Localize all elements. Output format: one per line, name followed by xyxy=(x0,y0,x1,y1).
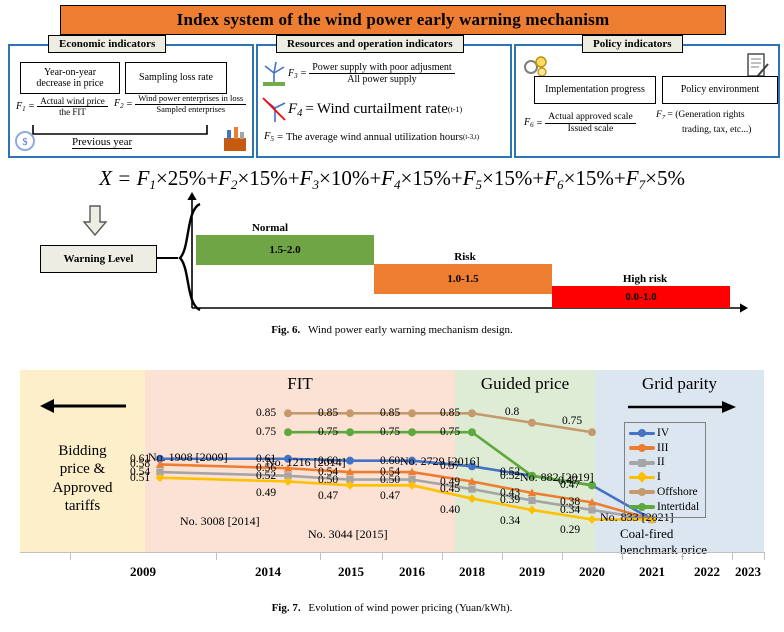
f3-fraction: Power supply with poor adjusment All pow… xyxy=(309,62,454,85)
data-point xyxy=(468,494,477,503)
legend-item-i[interactable]: I xyxy=(629,470,699,485)
figure-7-caption-label: Fig. 7. xyxy=(272,602,301,614)
box-label: Implementation progress xyxy=(545,84,645,96)
formula-term-5: F5×15% xyxy=(463,166,533,190)
f1-symbol: F1 xyxy=(16,101,26,113)
equals-sign: = xyxy=(127,99,133,110)
x-axis-label-2009: 2009 xyxy=(130,564,156,580)
data-label: 0.52 xyxy=(256,470,276,482)
data-label: 0.34 xyxy=(500,515,520,527)
equation-f6: F6 = Actual approved scale Issued scale xyxy=(524,112,636,134)
legend-swatch xyxy=(629,490,655,494)
legend-label: Offshore xyxy=(657,485,698,500)
bar-range-high-risk: 0.0-1.0 xyxy=(625,291,656,303)
box-label: Policy environment xyxy=(681,84,760,96)
f7-line2: trading, tax, etc...) xyxy=(682,123,751,137)
equals-sign: = xyxy=(301,68,307,79)
data-label: 0.39 xyxy=(500,494,520,506)
panel-economic-indicators: Economic indicators Year-on-year decreas… xyxy=(8,44,254,158)
chart-legend: IVIIIIIIOffshoreIntertidal xyxy=(624,422,706,518)
f4-subscript: (t-1) xyxy=(448,105,462,114)
bar-high-risk: 0.0-1.0 xyxy=(552,286,730,308)
annotation-no-882: No. 882 [2019] xyxy=(520,470,594,485)
legend-swatch xyxy=(629,432,655,436)
x-axis-label-2018: 2018 xyxy=(459,564,485,580)
equation-f5: F5 = The average wind annual utilization… xyxy=(264,131,479,143)
x-axis-label-2015: 2015 xyxy=(338,564,364,580)
box-sampling-loss-rate: Sampling loss rate xyxy=(125,62,227,94)
annotation-no-3044: No. 3044 [2015] xyxy=(308,527,388,542)
legend-item-iii[interactable]: III xyxy=(629,441,699,456)
equals-sign: = xyxy=(537,118,543,129)
data-label: 0.52 xyxy=(500,466,520,478)
f7-line1: = (Generation rights xyxy=(668,110,745,120)
panel-caption-economic: Economic indicators xyxy=(48,35,166,53)
data-point xyxy=(284,428,292,436)
equation-f7: F7 = (Generation rights trading, tax, et… xyxy=(656,108,751,137)
legend-swatch xyxy=(629,476,655,480)
data-point xyxy=(346,428,354,436)
bar-range-risk: 1.0-1.5 xyxy=(447,273,478,285)
page-title: Index system of the wind power early war… xyxy=(60,5,726,35)
data-label: 0.49 xyxy=(256,487,276,499)
box-year-on-year-decrease: Year-on-year decrease in price xyxy=(20,62,120,94)
data-label: 0.34 xyxy=(560,504,580,516)
x-tick xyxy=(622,552,623,560)
x-axis-label-2023: 2023 xyxy=(735,564,761,580)
data-label: 0.85 xyxy=(440,407,460,419)
annotation-no-1216: No. 1216 [2014] xyxy=(266,455,346,470)
box-implementation-progress: Implementation progress xyxy=(534,76,656,104)
figure-6-caption-text: Wind power early warning mechanism desig… xyxy=(308,324,513,336)
f5-subscript: (t-3,t) xyxy=(463,133,479,141)
x-tick xyxy=(764,552,765,560)
legend-swatch xyxy=(629,446,655,450)
f2-symbol: F2 xyxy=(114,98,124,110)
legend-item-intertidal[interactable]: Intertidal xyxy=(629,500,699,515)
panel-caption-policy: Policy indicators xyxy=(582,35,683,53)
formula-term-3: F3×10% xyxy=(300,166,370,190)
data-label: 0.75 xyxy=(256,426,276,438)
data-point xyxy=(408,409,416,417)
data-label: 0.75 xyxy=(318,426,338,438)
x-axis-label-2020: 2020 xyxy=(579,564,605,580)
legend-label: IV xyxy=(657,426,669,441)
x-axis-label-2014: 2014 xyxy=(255,564,281,580)
bar-range-normal: 1.5-2.0 xyxy=(269,244,300,256)
f6-numerator: Actual approved scale xyxy=(545,112,635,124)
f6-denominator: Issued scale xyxy=(545,124,635,135)
figure-7: FIT Guided price Grid parity Bidding pri… xyxy=(0,352,784,632)
data-label: 0.75 xyxy=(440,426,460,438)
x-axis-label-2021: 2021 xyxy=(639,564,665,580)
panel-policy-indicators: Policy indicators Implementation progres… xyxy=(514,44,780,158)
price-cycle-icon: $ xyxy=(14,130,36,152)
data-label: 0.50 xyxy=(318,474,338,486)
box-label: Year-on-year decrease in price xyxy=(26,67,114,90)
data-label: 0.40 xyxy=(440,504,460,516)
f6-symbol: F6 xyxy=(524,117,534,129)
x-tick xyxy=(216,552,217,560)
f3-denominator: All power supply xyxy=(309,74,454,85)
panel-caption-resources: Resources and operation indicators xyxy=(276,35,464,53)
annotation-no-2729: No. 2729 [2016] xyxy=(400,454,480,469)
x-tick xyxy=(502,552,503,560)
price-chart: FIT Guided price Grid parity Bidding pri… xyxy=(20,370,764,575)
data-label: 0.75 xyxy=(380,426,400,438)
data-point xyxy=(468,485,475,492)
bar-label-high-risk: High risk xyxy=(556,273,734,285)
formula-term-4: F4×15% xyxy=(381,166,451,190)
formula-terms: F1×25%+F2×15%+F3×10%+F4×15%+F5×15%+F6×15… xyxy=(137,166,685,190)
equation-f4: F4 = Wind curtailment rate (t-1) xyxy=(288,101,462,119)
legend-label: II xyxy=(657,455,665,470)
equals-sign: = xyxy=(305,101,313,118)
bar-label-risk: Risk xyxy=(380,251,550,263)
data-label: 0.47 xyxy=(318,490,338,502)
legend-swatch xyxy=(629,505,655,509)
equation-f2: F2 = Wind power enterprises in loss Samp… xyxy=(114,94,246,114)
x-tick xyxy=(70,552,71,560)
endnote-line-2: benchmark price xyxy=(620,542,707,558)
annotation-no-3008: No. 3008 [2014] xyxy=(180,514,260,529)
equals-sign: = xyxy=(29,101,35,112)
data-point xyxy=(528,419,536,427)
data-point xyxy=(588,506,595,513)
f2-denominator: Sampled enterprises xyxy=(135,105,246,115)
bar-normal: 1.5-2.0 xyxy=(196,235,374,265)
x-axis-label-2019: 2019 xyxy=(519,564,545,580)
data-label: 0.60 xyxy=(380,455,400,467)
data-point xyxy=(468,409,476,417)
warning-level-text: Warning Level xyxy=(64,253,134,265)
formula-term-1: F1×25% xyxy=(137,166,207,190)
x-tick xyxy=(320,552,321,560)
f1-fraction: Actual wind price the FIT xyxy=(37,96,107,117)
legend-item-offshore[interactable]: Offshore xyxy=(629,485,699,500)
f1-denominator: the FIT xyxy=(37,107,107,117)
figure-7-caption-text: Evolution of wind power pricing (Yuan/kW… xyxy=(308,602,512,614)
x-axis-label-2022: 2022 xyxy=(694,564,720,580)
endnote-line-1: Coal-fired xyxy=(620,526,707,542)
f3-symbol: F3 xyxy=(288,68,298,80)
legend-item-iv[interactable]: IV xyxy=(629,426,699,441)
panel-resources-operation: Resources and operation indicators F3 = … xyxy=(256,44,512,158)
data-point xyxy=(408,428,416,436)
x-axis-label-2016: 2016 xyxy=(399,564,425,580)
bar-risk: 1.0-1.5 xyxy=(374,264,552,294)
equation-f1: F1 = Actual wind price the FIT xyxy=(16,96,108,117)
x-tick xyxy=(732,552,733,560)
data-label: 0.75 xyxy=(562,415,582,427)
x-tick xyxy=(562,552,563,560)
data-label: 0.85 xyxy=(318,407,338,419)
data-label: 0.50 xyxy=(380,474,400,486)
f2-fraction: Wind power enterprises in loss Sampled e… xyxy=(135,94,246,114)
data-label: 0.47 xyxy=(380,490,400,502)
factory-icon xyxy=(222,124,248,152)
f6-fraction: Actual approved scale Issued scale xyxy=(545,112,635,134)
weighted-sum-formula: X = F1×25%+F2×15%+F3×10%+F4×15%+F5×15%+F… xyxy=(42,166,742,193)
f3-numerator: Power supply with poor adjusment xyxy=(309,62,454,74)
curtailed-turbine-icon xyxy=(261,96,287,124)
formula-lhs: X = xyxy=(99,166,131,190)
data-label: 0.85 xyxy=(380,407,400,419)
box-policy-environment: Policy environment xyxy=(662,76,778,104)
figure-6-caption-label: Fig. 6. xyxy=(271,324,300,336)
x-tick xyxy=(382,552,383,560)
x-tick xyxy=(682,552,683,560)
f2-numerator: Wind power enterprises in loss xyxy=(135,94,246,105)
x-tick xyxy=(442,552,443,560)
warning-level-label: Warning Level xyxy=(40,245,157,273)
f7-symbol: F7 xyxy=(656,110,665,120)
data-point xyxy=(346,457,354,465)
data-point xyxy=(346,409,354,417)
equals-sign: = xyxy=(277,132,283,143)
f4-text: Wind curtailment rate xyxy=(317,101,448,118)
data-label: 0.8 xyxy=(505,406,519,418)
legend-label: I xyxy=(657,470,661,485)
data-label: 0.85 xyxy=(256,407,276,419)
data-point xyxy=(528,506,537,515)
data-point xyxy=(528,497,535,504)
f5-text: The average wind annual utilization hour… xyxy=(286,132,463,143)
legend-label: III xyxy=(657,441,669,456)
annotation-no-1908: No. 1908 [2009] xyxy=(148,450,228,465)
data-point xyxy=(588,515,597,524)
legend-swatch xyxy=(629,461,655,465)
bar-label-normal: Normal xyxy=(200,222,340,234)
down-arrow-icon xyxy=(82,205,108,237)
data-label: 0.29 xyxy=(560,524,580,536)
legend-item-ii[interactable]: II xyxy=(629,455,699,470)
formula-term-7: F7×5% xyxy=(626,166,685,190)
figure-7-caption: Fig. 7. Evolution of wind power pricing … xyxy=(0,602,784,614)
legend-label: Intertidal xyxy=(657,500,699,515)
equation-f3: F3 = Power supply with poor adjusment Al… xyxy=(288,62,455,85)
wind-turbine-icon xyxy=(261,60,287,86)
formula-term-6: F6×15% xyxy=(544,166,614,190)
formula-term-2: F2×15% xyxy=(218,166,288,190)
f5-symbol: F5 xyxy=(264,131,274,143)
figure-6: Index system of the wind power early war… xyxy=(0,0,784,345)
data-point xyxy=(284,409,292,417)
f4-symbol: F4 xyxy=(288,101,302,119)
figure-6-caption: Fig. 6. Wind power early warning mechani… xyxy=(0,324,784,336)
data-point xyxy=(588,428,596,436)
x-axis-line xyxy=(20,552,764,553)
data-label: 0.51 xyxy=(130,472,150,484)
svg-text:$: $ xyxy=(23,137,28,148)
f1-numerator: Actual wind price xyxy=(37,96,107,107)
data-label: 0.45 xyxy=(440,483,460,495)
data-point xyxy=(468,428,476,436)
label-previous-year: Previous year xyxy=(72,136,132,149)
box-label: Sampling loss rate xyxy=(139,72,213,84)
